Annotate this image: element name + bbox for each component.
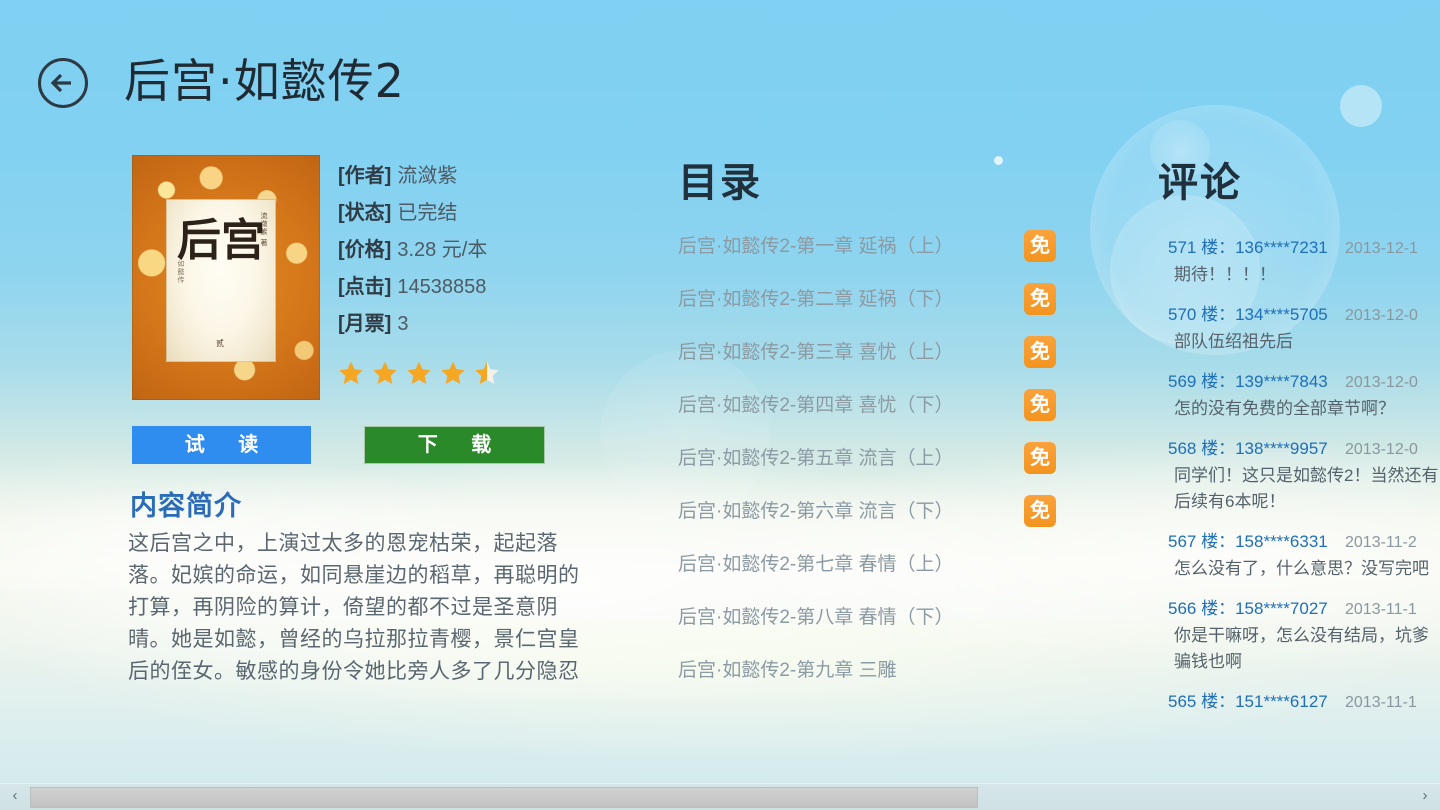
star-icon	[440, 360, 466, 386]
toc-item-title: 后宫·如懿传2-第一章 延祸（上）	[678, 235, 954, 259]
free-badge: 免	[1024, 442, 1056, 474]
comment-user: 566 楼：158****7027	[1168, 598, 1328, 620]
cover-subtitle-text: 贰	[167, 338, 275, 349]
toc-item-title: 后宫·如懿传2-第五章 流言（上）	[678, 447, 954, 471]
comment-item[interactable]: 565 楼：151****6127 2013-11-1	[1140, 691, 1440, 714]
book-metadata-list: [作者]流潋紫 [状态]已完结 [价格]3.28 元/本 [点击]1453885…	[338, 158, 618, 343]
metadata-label: [月票]	[338, 313, 391, 335]
toc-item-title: 后宫·如懿传2-第四章 喜忧（下）	[678, 394, 954, 418]
book-detail-panel: 流潋紫 著 如懿传 后宫 贰 [作者]流潋紫 [状态]已完结 [价格]3.28 …	[0, 0, 640, 810]
app-root: 后宫·如懿传2 流潋紫 著 如懿传 后宫 贰 [作者]流潋紫 [状态]已完结 […	[0, 0, 1440, 810]
toc-item-title: 后宫·如懿传2-第九章 三雕	[678, 659, 897, 683]
star-icon	[406, 360, 432, 386]
comment-header: 571 楼：136****7231 2013-12-1	[1140, 237, 1440, 260]
comment-header: 565 楼：151****6127 2013-11-1	[1140, 691, 1440, 714]
comment-text: 怎么没有了，什么意思？没写完吧	[1174, 556, 1440, 582]
synopsis-body: 这后宫之中，上演过太多的恩宠枯荣，起起落落。妃嫔的命运，如同悬崖边的稻草，再聪明…	[128, 528, 588, 688]
book-cover-inner-panel: 流潋紫 著 如懿传 后宫 贰	[166, 199, 276, 362]
metadata-row: [状态]已完结	[338, 195, 618, 232]
comment-text: 你是干嘛呀，怎么没有结局，坑爹骗钱也啊	[1174, 623, 1440, 675]
toc-item[interactable]: 后宫·如懿传2-第八章 春情（下）	[678, 606, 1073, 659]
toc-item[interactable]: 后宫·如懿传2-第六章 流言（下） 免	[678, 500, 1073, 553]
book-cover-image: 流潋紫 著 如懿传 后宫 贰	[132, 155, 320, 400]
toc-item[interactable]: 后宫·如懿传2-第九章 三雕	[678, 659, 1073, 712]
comment-item[interactable]: 570 楼：134****5705 2013-12-0 部队伍绍祖先后	[1140, 304, 1440, 355]
free-badge: 免	[1024, 283, 1056, 315]
comment-header: 566 楼：158****7027 2013-11-1	[1140, 598, 1440, 621]
toc-item-title: 后宫·如懿传2-第三章 喜忧（上）	[678, 341, 954, 365]
comment-item[interactable]: 567 楼：158****6331 2013-11-2 怎么没有了，什么意思？没…	[1140, 531, 1440, 582]
star-half-icon	[474, 360, 500, 386]
metadata-value: 14538858	[397, 276, 486, 298]
metadata-value: 3.28 元/本	[397, 239, 487, 261]
metadata-label: [状态]	[338, 202, 391, 224]
metadata-value: 已完结	[397, 202, 457, 224]
table-of-contents-panel: 目录 后宫·如懿传2-第一章 延祸（上） 免 后宫·如懿传2-第二章 延祸（下）…	[660, 0, 1080, 810]
download-button[interactable]: 下 载	[364, 426, 545, 464]
toc-heading: 目录	[678, 150, 762, 208]
metadata-label: [点击]	[338, 276, 391, 298]
comment-item[interactable]: 571 楼：136****7231 2013-12-1 期待！！！！	[1140, 237, 1440, 288]
toc-item[interactable]: 后宫·如懿传2-第七章 春情（上）	[678, 553, 1073, 606]
toc-item-title: 后宫·如懿传2-第六章 流言（下）	[678, 500, 954, 524]
comment-date: 2013-11-1	[1345, 692, 1417, 714]
toc-item-title: 后宫·如懿传2-第二章 延祸（下）	[678, 288, 954, 312]
star-icon	[338, 360, 364, 386]
free-badge: 免	[1024, 230, 1056, 262]
metadata-row: [作者]流潋紫	[338, 158, 618, 195]
toc-item[interactable]: 后宫·如懿传2-第五章 流言（上） 免	[678, 447, 1073, 500]
star-icon	[372, 360, 398, 386]
cover-title-text: 后宫	[167, 218, 275, 264]
scrollbar-thumb[interactable]	[30, 787, 978, 808]
comment-text: 怎的没有免费的全部章节啊？	[1174, 396, 1440, 422]
toc-item-title: 后宫·如懿传2-第七章 春情（上）	[678, 553, 954, 577]
toc-list: 后宫·如懿传2-第一章 延祸（上） 免 后宫·如懿传2-第二章 延祸（下） 免 …	[678, 235, 1073, 712]
comment-user: 571 楼：136****7231	[1168, 237, 1328, 259]
comment-date: 2013-12-0	[1345, 439, 1418, 461]
metadata-label: [价格]	[338, 239, 391, 261]
toc-item[interactable]: 后宫·如懿传2-第二章 延祸（下） 免	[678, 288, 1073, 341]
comment-header: 570 楼：134****5705 2013-12-0	[1140, 304, 1440, 327]
free-badge: 免	[1024, 495, 1056, 527]
comment-header: 569 楼：139****7843 2013-12-0	[1140, 371, 1440, 394]
comment-date: 2013-11-2	[1345, 532, 1417, 554]
toc-item[interactable]: 后宫·如懿传2-第三章 喜忧（上） 免	[678, 341, 1073, 394]
synopsis-heading: 内容简介	[130, 484, 242, 523]
comment-text: 期待！！！！	[1174, 262, 1440, 288]
free-badge: 免	[1024, 336, 1056, 368]
comments-list: 571 楼：136****7231 2013-12-1 期待！！！！ 570 楼…	[1140, 237, 1440, 730]
comment-header: 568 楼：138****9957 2013-12-0	[1140, 438, 1440, 461]
comment-user: 565 楼：151****6127	[1168, 691, 1328, 713]
comment-item[interactable]: 566 楼：158****7027 2013-11-1 你是干嘛呀，怎么没有结局…	[1140, 598, 1440, 675]
comment-text: 部队伍绍祖先后	[1174, 329, 1440, 355]
scroll-right-arrow-icon[interactable]: ›	[1412, 784, 1438, 810]
comment-date: 2013-12-1	[1345, 238, 1418, 260]
comment-user: 567 楼：158****6331	[1168, 531, 1328, 553]
comment-user: 569 楼：139****7843	[1168, 371, 1328, 393]
comments-heading: 评论	[1158, 150, 1242, 208]
free-badge: 免	[1024, 389, 1056, 421]
toc-item[interactable]: 后宫·如懿传2-第一章 延祸（上） 免	[678, 235, 1073, 288]
toc-item[interactable]: 后宫·如懿传2-第四章 喜忧（下） 免	[678, 394, 1073, 447]
comment-date: 2013-12-0	[1345, 372, 1418, 394]
trial-read-button[interactable]: 试 读	[132, 426, 311, 464]
comment-user: 568 楼：138****9957	[1168, 438, 1328, 460]
metadata-value: 3	[397, 313, 408, 335]
comments-panel: 评论 571 楼：136****7231 2013-12-1 期待！！！！ 57…	[1140, 0, 1440, 810]
comment-user: 570 楼：134****5705	[1168, 304, 1328, 326]
toc-item-title: 后宫·如懿传2-第八章 春情（下）	[678, 606, 954, 630]
star-rating[interactable]	[338, 360, 508, 386]
comment-item[interactable]: 568 楼：138****9957 2013-12-0 同学们！这只是如懿传2！…	[1140, 438, 1440, 515]
comment-header: 567 楼：158****6331 2013-11-2	[1140, 531, 1440, 554]
scroll-left-arrow-icon[interactable]: ‹	[2, 784, 28, 810]
comment-date: 2013-11-1	[1345, 599, 1417, 621]
metadata-row: [点击]14538858	[338, 269, 618, 306]
comment-text: 同学们！这只是如懿传2！当然还有后续有6本呢！	[1174, 463, 1440, 515]
metadata-value: 流潋紫	[397, 165, 457, 187]
comment-item[interactable]: 569 楼：139****7843 2013-12-0 怎的没有免费的全部章节啊…	[1140, 371, 1440, 422]
metadata-row: [价格]3.28 元/本	[338, 232, 618, 269]
metadata-row: [月票]3	[338, 306, 618, 343]
comment-date: 2013-12-0	[1345, 305, 1418, 327]
horizontal-scrollbar[interactable]: ‹ ›	[0, 783, 1440, 810]
metadata-label: [作者]	[338, 165, 391, 187]
